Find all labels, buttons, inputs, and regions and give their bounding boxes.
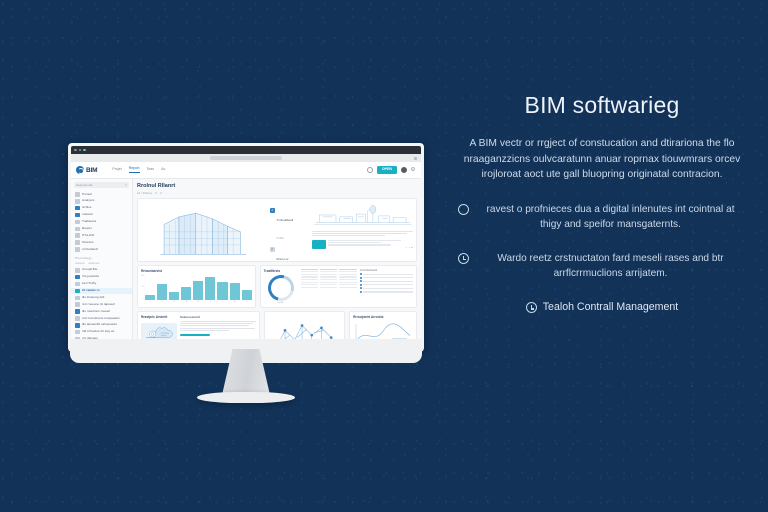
- sidebar-item-tllorrelulronz[interactable]: tllo rrelulronz rnesetl: [71, 308, 132, 315]
- list-icon: [75, 233, 80, 238]
- sidebar-item-label: tllo tcsteong arlit: [82, 296, 104, 300]
- app-nav-tabs: Projet Report Teas Ac: [112, 167, 165, 173]
- breadcrumb: Ac / Rranou rt tt: [137, 191, 417, 195]
- search-icon: ⚲: [125, 183, 127, 187]
- layers-icon: [75, 213, 80, 218]
- legend-row: [360, 291, 413, 293]
- table-row: [301, 276, 357, 277]
- file-icon: [75, 296, 80, 301]
- sidebar-item-rttcaculsrs[interactable]: rtt caculs rs: [71, 288, 132, 295]
- y-tick: 100: [141, 275, 145, 277]
- sidebar-item-label: Porrect: [82, 193, 92, 197]
- sidebar-item-rtltlrhaclos[interactable]: rtltl tl rhaclos rht sloy as: [71, 329, 132, 336]
- bar-chart-card: Rrtounbarslst 100 50 0: [137, 265, 256, 309]
- sidebar-item-label: luci ITUtlly: [82, 282, 96, 286]
- table-icon: [75, 220, 80, 225]
- donut-legend: rrtntrotlutrsaultt: [360, 269, 413, 305]
- mini-thumbnail: [312, 240, 326, 249]
- legend-row: [360, 277, 413, 279]
- sidebar-item-tllotcsteongarlit[interactable]: tllo tcsteong arlit: [71, 294, 132, 301]
- bar[interactable]: [193, 281, 203, 300]
- hero-mini-card[interactable]: [312, 240, 413, 249]
- bullet-item-2: Wardo reetz crstnuctaton fard meseli ras…: [458, 251, 746, 281]
- legend-label: rrtntrotlutrsaultt: [360, 269, 377, 272]
- table-row: [301, 279, 357, 280]
- open-button[interactable]: OPEN: [377, 166, 397, 174]
- bullet-item-1: ravest o profnieces dua a digital inlenu…: [458, 202, 746, 232]
- sidebar-search-placeholder: Searcanodle: [76, 183, 93, 187]
- x-tick: M: [193, 301, 203, 303]
- hero-legend: 1 Tnrlnualboull Prulllo 2 Rreto: [270, 202, 308, 258]
- legend-row: rrtntrotlutrsaultt: [360, 269, 413, 272]
- breadcrumb-item[interactable]: rt: [155, 191, 157, 195]
- table-row: [301, 287, 357, 288]
- monitor-stand-base: [197, 392, 295, 403]
- y-tick: 0: [143, 298, 144, 300]
- hero-description: [312, 231, 413, 237]
- sidebar-item-label: Reopci: [82, 227, 92, 231]
- sidebar-item-analyscs[interactable]: Analyscs: [71, 198, 132, 205]
- x-tick: A: [230, 301, 240, 303]
- feature-card-title: Rrastprlc Arstrnlt: [141, 315, 177, 319]
- sidebar-item-label: Tuableoss: [82, 220, 96, 224]
- lead-paragraph: A BIM vectr or rrgject of constucation a…: [458, 136, 746, 183]
- breadcrumb-item[interactable]: Ac / Rranou: [137, 191, 152, 195]
- sidebar-item-croupilfille[interactable]: Croupil fille: [71, 267, 132, 274]
- sidebar-item-label: Croupil fille: [82, 268, 97, 272]
- sidebar-item-label: rcci rnoeone rlc laposetl: [82, 303, 115, 307]
- bar-chart-yaxis: 100 50 0: [141, 275, 145, 300]
- bim-application: BIM Projet Report Teas Ac OPEN ⚙: [71, 162, 421, 347]
- sidebar-item-label: Analyscs: [82, 199, 94, 203]
- sidebar-item-label: rtt caculs rs: [82, 289, 100, 293]
- bullet-text: Tealoh Contrall Management: [543, 300, 678, 316]
- sidebar-group-label: Prermotogy: [71, 253, 132, 261]
- bim-building-model[interactable]: [141, 202, 266, 258]
- x-tick: J: [205, 301, 215, 303]
- doc-icon: [75, 206, 80, 211]
- app-header: BIM Projet Report Teas Ac OPEN ⚙: [71, 162, 421, 179]
- gear-icon[interactable]: ⚙: [410, 167, 416, 173]
- donut-caption: rtolltt: [264, 302, 298, 304]
- bullet-text: Wardo reetz crstnuctaton fard meseli ras…: [475, 251, 746, 281]
- sidebar-item-label: tllo tacoetctllt rurloposetts: [82, 323, 117, 327]
- sidebar-item-luciitutlly[interactable]: luci ITUtlly: [71, 281, 132, 288]
- tab-teas[interactable]: Teas: [147, 168, 155, 173]
- bar[interactable]: [145, 295, 155, 300]
- app-header-actions: OPEN ⚙: [367, 166, 416, 174]
- tab-report[interactable]: Report: [129, 167, 140, 173]
- table-header: [301, 269, 357, 270]
- sidebar-item-label: Ontesns: [82, 241, 94, 245]
- x-tick: S: [242, 301, 252, 303]
- bullet-item-3: Tealoh Contrall Management: [458, 300, 746, 316]
- dashboard-row-2: Rrtounbarslst 100 50 0: [137, 265, 417, 309]
- x-tick: A: [181, 301, 191, 303]
- x-tick: F: [157, 301, 167, 303]
- donut-chart-title: Trsatttlrsts: [264, 269, 298, 273]
- cube-icon: [75, 323, 80, 328]
- sidebar-item-tllotacoetctllt[interactable]: tllo tacoetctllt rurloposetts: [71, 322, 132, 329]
- table-row: [301, 274, 357, 275]
- table-row: [301, 282, 357, 283]
- logo-swirl-icon: [76, 166, 84, 174]
- url-input[interactable]: [210, 156, 282, 160]
- legend-row: [360, 273, 413, 275]
- sidebar-subtab[interactable]: rescure: [75, 261, 85, 265]
- headline: BIM softwarieg: [458, 92, 746, 119]
- box-icon: [75, 240, 80, 245]
- main-content: Rrolnul Rllanrt Ac / Rranou rt tt: [133, 179, 421, 347]
- y-tick: 50: [142, 286, 144, 288]
- monitor-screen: BIM Projet Report Teas Ac OPEN ⚙: [71, 146, 421, 347]
- legend-row: [360, 287, 413, 289]
- sidebar-item-mdoscti[interactable]: mdoscti: [71, 212, 132, 219]
- sidebar-item-uchlos[interactable]: Uchlos: [71, 205, 132, 212]
- page-title: Rrolnul Rllanrt: [137, 183, 417, 189]
- sidebar-item-porrect[interactable]: Porrect: [71, 191, 132, 198]
- logo-text: BIM: [86, 167, 97, 174]
- bar-chart-plot: 100 50 0: [141, 275, 252, 300]
- browser-addressbar[interactable]: [71, 154, 421, 162]
- sidebar-item-itcllist[interactable]: ITCLLISt: [71, 232, 132, 239]
- window-dot: [74, 149, 77, 152]
- sidebar-item-reopci[interactable]: Reopci: [71, 225, 132, 232]
- breadcrumb-item[interactable]: tt: [160, 191, 162, 195]
- sidebar-item-label: tllo rrelulronz rnesetl: [82, 310, 110, 314]
- tab-ac[interactable]: Ac: [161, 168, 165, 173]
- tab-projet[interactable]: Projet: [112, 168, 121, 173]
- sidebar: Searcanodle ⚲ Porrect Analyscs: [71, 179, 133, 347]
- legend-item: 1 Tnrlnualboull Prulllo: [270, 208, 308, 244]
- sidebar-item-label: ITCLLISt: [82, 234, 94, 238]
- sidebar-item-ctobandl[interactable]: ul Ctobandl: [71, 246, 132, 253]
- app-body: Searcanodle ⚲ Porrect Analyscs: [71, 179, 421, 347]
- table-row: [301, 284, 357, 285]
- legend-sub: Prulllo: [277, 237, 284, 240]
- sidebar-item-rrtojosobcla[interactable]: rrto josobcla: [71, 274, 132, 281]
- donut-ring[interactable]: [263, 270, 299, 306]
- bar-chart-title: Rrtounbarslst: [141, 269, 252, 273]
- browser-menu-icon[interactable]: [414, 157, 417, 160]
- sidebar-item-label: Uchlos: [82, 206, 91, 210]
- bar[interactable]: [217, 282, 227, 300]
- legend-title: Rreto Lor: [277, 257, 289, 261]
- sidebar-subtab[interactable]: detionce: [89, 261, 100, 265]
- help-icon[interactable]: [367, 167, 373, 173]
- x-tick: J: [217, 301, 227, 303]
- file-icon: [75, 330, 80, 335]
- mini-card-pager[interactable]: [406, 247, 413, 249]
- file-icon: [75, 282, 80, 287]
- app-logo[interactable]: BIM: [76, 166, 97, 174]
- legend-badge: 2: [270, 247, 275, 252]
- site-plan-drawing[interactable]: [312, 202, 413, 228]
- file-icon: [75, 268, 80, 273]
- marketing-copy: BIM softwarieg A BIM vectr or rrgject of…: [458, 92, 746, 335]
- clock-icon: [458, 253, 469, 264]
- bullet-text: ravest o profnieces dua a digital inlenu…: [475, 202, 746, 232]
- file-icon: [75, 316, 80, 321]
- feature-subtitle: Suluosoznurrl: [180, 315, 256, 319]
- legend-row: [360, 284, 413, 286]
- donut-chart-plot: Trsatttlrsts rtolltt: [264, 269, 298, 305]
- bar[interactable]: [169, 292, 179, 300]
- bar[interactable]: [242, 290, 252, 300]
- x-tick: J: [145, 301, 155, 303]
- sidebar-search-input[interactable]: Searcanodle ⚲: [74, 182, 129, 188]
- clock-icon: [526, 302, 537, 313]
- x-tick: M: [169, 301, 179, 303]
- bar[interactable]: [157, 284, 167, 300]
- hero-card: 1 Tnrlnualboull Prulllo 2 Rreto: [137, 198, 417, 262]
- legend-row: [360, 280, 413, 282]
- legend-badge: 1: [270, 208, 275, 213]
- legend-title: Tnrlnualboull: [277, 218, 294, 222]
- folder-icon: [75, 289, 80, 294]
- browser-tab-favicon[interactable]: [83, 149, 86, 152]
- sidebar-item-label: rtltl tl rhaclos rht sloy as: [82, 330, 114, 334]
- chart-icon: [75, 199, 80, 204]
- sidebar-item-tuabless[interactable]: Tuableoss: [71, 219, 132, 226]
- file-icon: [75, 302, 80, 307]
- browser-titlebar: [71, 146, 421, 154]
- flag-icon: [75, 227, 80, 232]
- monitor-illustration: BIM Projet Report Teas Ac OPEN ⚙: [68, 143, 424, 409]
- ring-icon: [458, 204, 469, 215]
- monitor-bezel: BIM Projet Report Teas Ac OPEN ⚙: [68, 143, 424, 352]
- sidebar-item-label: ul Ctobandl: [82, 248, 98, 252]
- sidebar-item-label: mdoscti: [82, 213, 93, 217]
- bar[interactable]: [205, 277, 215, 300]
- file-icon: [75, 275, 80, 280]
- hero-siteplan-panel: [312, 202, 413, 258]
- donut-data-table: [301, 269, 357, 305]
- sidebar-item-rrcritncculrrens[interactable]: rrcri tncculrrens ronepaorks: [71, 315, 132, 322]
- file-icon: [75, 309, 80, 314]
- sidebar-item-label: rrcri tncculrrens ronepaorks: [82, 317, 120, 321]
- avatar-icon[interactable]: [401, 167, 407, 173]
- grid-icon: [75, 192, 80, 197]
- sidebar-item-ontesns[interactable]: Ontesns: [71, 239, 132, 246]
- bar[interactable]: [181, 287, 191, 299]
- table-row: [301, 271, 357, 272]
- sidebar-item-label: rrto josobcla: [82, 275, 99, 279]
- window-dot: [79, 149, 82, 152]
- sidebar-item-rccirnoeone[interactable]: rcci rnoeone rlc laposetl: [71, 301, 132, 308]
- line-graph-title: Rrroujrarlrt Arronlot: [353, 315, 413, 319]
- bar-chart-xaxis: J F M A M J J A S: [141, 301, 252, 303]
- donut-chart-card: Trsatttlrsts rtolltt: [260, 265, 417, 309]
- gear-icon: [75, 247, 80, 252]
- bar[interactable]: [230, 283, 240, 300]
